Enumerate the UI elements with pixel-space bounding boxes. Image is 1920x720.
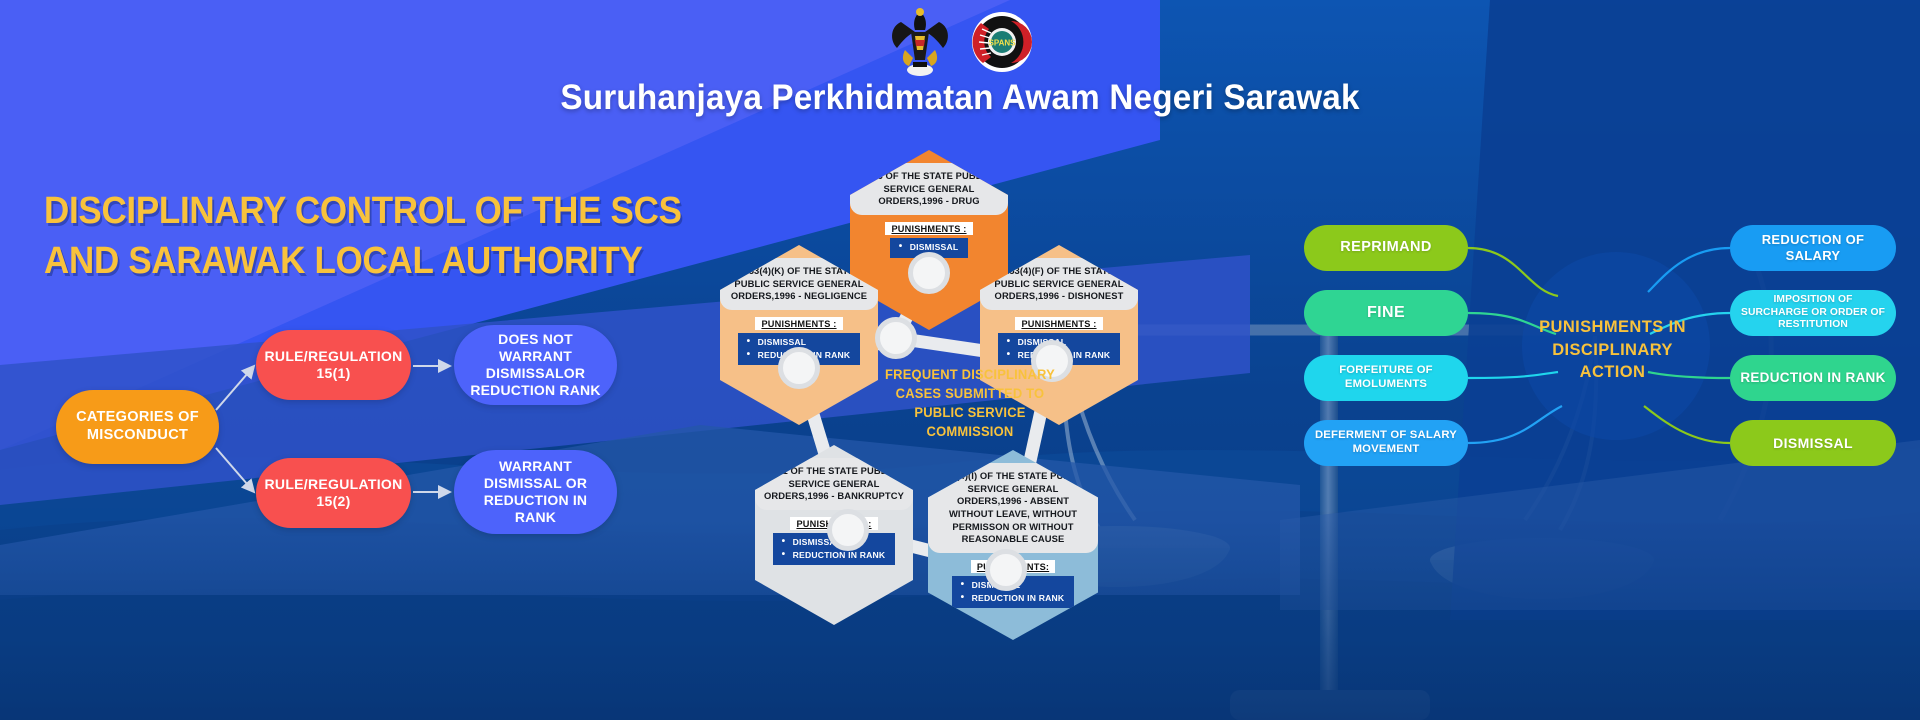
header: SPANS Suruhanjaya Perkhidmatan Awam Nege… (0, 0, 1920, 140)
punishment-reduction-of-salary[interactable]: REDUCTION OF SALARY (1730, 225, 1896, 271)
frequent-cases-cluster: 155 OF THE STATE PUBLIC SERVICE GENERAL … (700, 150, 1240, 670)
infographic-canvas: SPANS Suruhanjaya Perkhidmatan Awam Nege… (0, 0, 1920, 720)
page-title-line-2: AND SARAWAK LOCAL AUTHORITY (44, 236, 633, 286)
punishment-reprimand[interactable]: REPRIMAND (1304, 225, 1468, 271)
punishments-heading: PUNISHMENTS : (885, 222, 972, 235)
pill-outcome-warrant-dismissal[interactable]: WARRANT DISMISSAL OR REDUCTION IN RANK (454, 450, 617, 534)
page-title: DISCIPLINARY CONTROL OF THE SCS AND SARA… (44, 186, 633, 286)
page-title-line-1: DISCIPLINARY CONTROL OF THE SCS (44, 186, 633, 236)
logo-row: SPANS (0, 6, 1920, 78)
connector-node-center-upper (875, 317, 917, 359)
pill-rule-15-1[interactable]: RULE/REGULATION 15(1) (256, 330, 411, 400)
organization-title: Suruhanjaya Perkhidmatan Awam Negeri Sar… (48, 78, 1872, 118)
punishment-item: REDUCTION IN RANK (781, 549, 886, 561)
punishment-forfeiture-of-emoluments[interactable]: FORFEITURE OF EMOLUMENTS (1304, 355, 1468, 401)
cluster-center-label: FREQUENT DISCIPLINARY CASES SUBMITTED TO… (879, 365, 1061, 442)
spans-logo-text: SPANS (989, 39, 1017, 48)
connector-node-left (778, 347, 820, 389)
punishments-heading: PUNISHMENTS : (1015, 317, 1102, 330)
sarawak-coat-of-arms-icon (887, 6, 953, 78)
punishment-deferment-of-salary-movement[interactable]: DEFERMENT OF SALARY MOVEMENT (1304, 420, 1468, 466)
punishment-imposition-of-surcharge[interactable]: IMPOSITION OF SURCHARGE OR ORDER OF REST… (1730, 290, 1896, 336)
pill-rule-15-2[interactable]: RULE/REGULATION 15(2) (256, 458, 411, 528)
pill-outcome-no-dismissal[interactable]: DOES NOT WARRANT DISMISSALOR REDUCTION R… (454, 325, 617, 405)
spans-logo-icon: SPANS (971, 11, 1033, 73)
punishment-map: REPRIMAND FINE FORFEITURE OF EMOLUMENTS … (1290, 230, 1910, 520)
punishment-item: REDUCTION IN RANK (960, 592, 1065, 604)
misconduct-flow: CATEGORIES OF MISCONDUCT RULE/REGULATION… (56, 330, 656, 580)
connector-node-bottom-left (827, 509, 869, 551)
punishments-heading: PUNISHMENTS : (755, 317, 842, 330)
punishment-fine[interactable]: FINE (1304, 290, 1468, 336)
punishment-reduction-in-rank[interactable]: REDUCTION IN RANK (1730, 355, 1896, 401)
pill-categories-of-misconduct[interactable]: CATEGORIES OF MISCONDUCT (56, 390, 219, 464)
punishment-dismissal[interactable]: DISMISSAL (1730, 420, 1896, 466)
connector-node-bottom-right (985, 549, 1027, 591)
punishment-map-center-label: PUNISHMENTS IN DISCIPLINARY ACTION (1535, 270, 1690, 430)
connector-node-top (908, 252, 950, 294)
